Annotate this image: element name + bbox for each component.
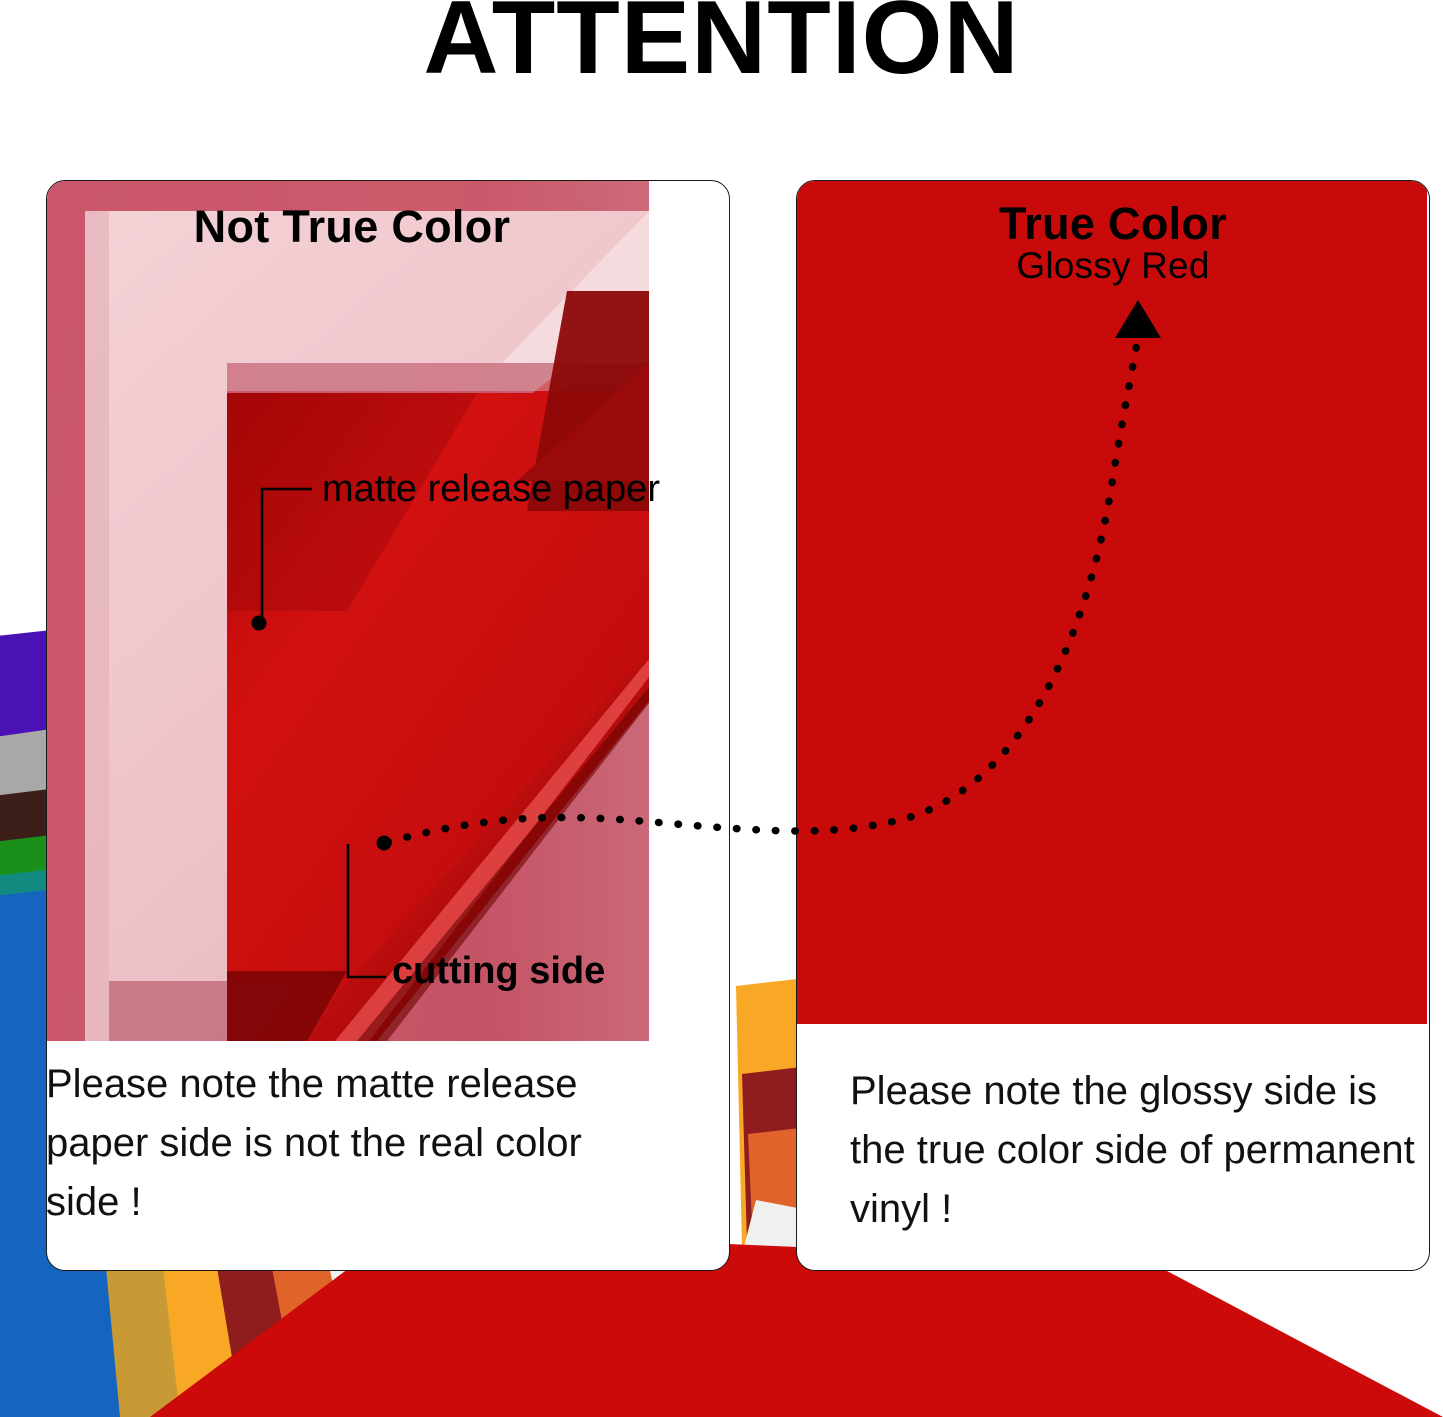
matte-vinyl-photo	[47, 181, 649, 1041]
glossy-red-photo	[797, 181, 1427, 1024]
page-title: ATTENTION	[0, 0, 1443, 90]
release-paper-edge-left	[85, 211, 109, 1041]
infographic-canvas: ATTENTION	[0, 0, 1443, 1417]
annotation-matte-release-paper: matte release paper	[322, 468, 660, 511]
annotation-cutting-side: cutting side	[392, 950, 605, 993]
right-panel-caption: Please note the glossy side is the true …	[850, 1062, 1420, 1240]
left-panel-caption: Please note the matte release paper side…	[46, 1055, 666, 1233]
